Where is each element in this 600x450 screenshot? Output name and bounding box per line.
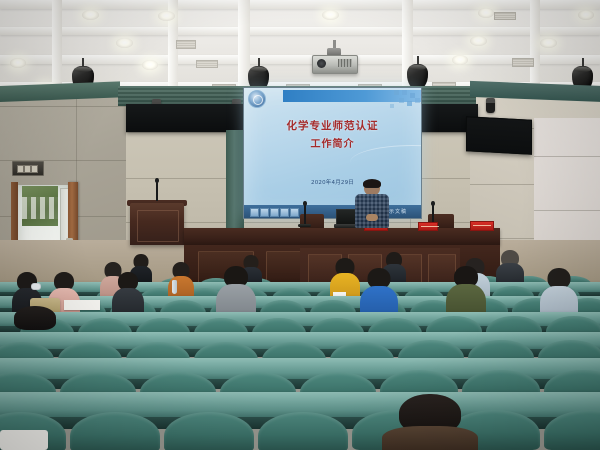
wall-mounted-display[interactable] xyxy=(466,116,532,154)
attendee xyxy=(496,250,524,286)
ceiling-vent xyxy=(512,58,534,67)
ceiling-beam xyxy=(0,27,600,35)
downlight xyxy=(10,58,26,68)
ceiling-vent xyxy=(196,60,218,68)
corridor-railing xyxy=(22,197,58,219)
water-bottle xyxy=(172,280,177,294)
ceiling-projector-icon xyxy=(312,40,356,74)
ceiling-beam xyxy=(530,0,540,92)
downlight xyxy=(478,8,494,18)
notebook xyxy=(64,300,100,310)
head-table xyxy=(184,228,500,245)
downlight xyxy=(82,10,99,20)
microphone-base xyxy=(298,224,311,227)
light-switch-panel[interactable] xyxy=(12,161,44,176)
ceiling-beam xyxy=(0,0,600,9)
slide-taskbar: 演示文稿 xyxy=(244,205,421,218)
black-hat xyxy=(14,306,56,330)
downlight xyxy=(116,38,133,48)
paper-sheet xyxy=(0,430,48,450)
ceiling-beam xyxy=(52,0,62,92)
slide-title: 化学专业师范认证 xyxy=(244,118,421,133)
wall-spotlight xyxy=(486,98,495,113)
downlight xyxy=(142,60,158,70)
downlight xyxy=(578,10,594,20)
ceiling-vent xyxy=(176,40,196,49)
presenter xyxy=(355,180,389,230)
slide-decorative-curve xyxy=(350,145,422,180)
downlight xyxy=(452,55,468,65)
projection-screen: 化学专业师范认证 工作简介 2020年4月29日 演示文稿 xyxy=(243,87,422,219)
microphone xyxy=(304,204,306,224)
name-placard xyxy=(418,222,438,231)
ceiling-vent xyxy=(494,12,516,20)
microphone xyxy=(432,204,434,224)
downlight xyxy=(540,38,557,48)
microphone xyxy=(156,181,158,201)
name-placard xyxy=(470,221,494,231)
downlight xyxy=(470,36,487,46)
attendee xyxy=(382,394,478,450)
university-emblem-icon xyxy=(248,90,266,108)
downlight xyxy=(158,11,175,21)
downlight xyxy=(322,10,339,20)
lectern-panel xyxy=(137,210,179,242)
lecture-hall-scene: 化学专业师范认证 工作简介 2020年4月29日 演示文稿 xyxy=(0,0,600,450)
slide-date: 2020年4月29日 xyxy=(244,178,421,186)
ceiling xyxy=(0,0,600,92)
